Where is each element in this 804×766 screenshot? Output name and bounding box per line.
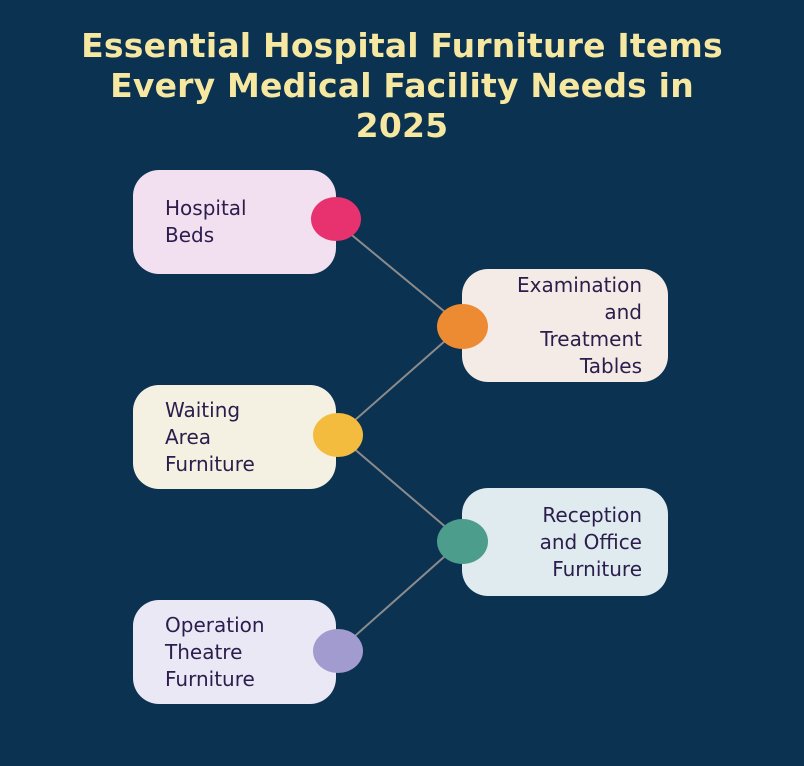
node-card-waiting-area-furniture[interactable]: Waiting Area Furniture [133, 385, 336, 489]
node-card-examination-and-treatment-tables[interactable]: Examination and Treatment Tables [462, 269, 668, 382]
page-title: Essential Hospital Furniture Items Every… [62, 26, 742, 146]
connector-exam-to-waiting [338, 326, 462, 435]
title-line-1: Essential Hospital Furniture Items [62, 26, 742, 66]
node-label-hospital-beds: Hospital Beds [133, 195, 336, 249]
node-card-reception-and-office-furniture[interactable]: Reception and Office Furniture [462, 488, 668, 596]
node-dot-examination-and-treatment-tables[interactable] [437, 304, 488, 349]
connector-reception-to-theatre [338, 541, 462, 651]
node-label-examination-and-treatment-tables: Examination and Treatment Tables [462, 272, 668, 380]
node-label-reception-and-office-furniture: Reception and Office Furniture [462, 502, 668, 583]
node-card-hospital-beds[interactable]: Hospital Beds [133, 170, 336, 274]
node-dot-reception-and-office-furniture[interactable] [437, 519, 488, 564]
title-line-3: 2025 [62, 106, 742, 146]
node-label-waiting-area-furniture: Waiting Area Furniture [133, 397, 336, 478]
node-dot-hospital-beds[interactable] [311, 197, 361, 241]
node-dot-waiting-area-furniture[interactable] [313, 413, 363, 457]
title-line-2: Every Medical Facility Needs in [62, 66, 742, 106]
node-card-operation-theatre-furniture[interactable]: Operation Theatre Furniture [133, 600, 336, 704]
node-dot-operation-theatre-furniture[interactable] [313, 629, 363, 673]
infographic-canvas: Essential Hospital Furniture Items Every… [0, 0, 804, 766]
node-label-operation-theatre-furniture: Operation Theatre Furniture [133, 612, 336, 693]
